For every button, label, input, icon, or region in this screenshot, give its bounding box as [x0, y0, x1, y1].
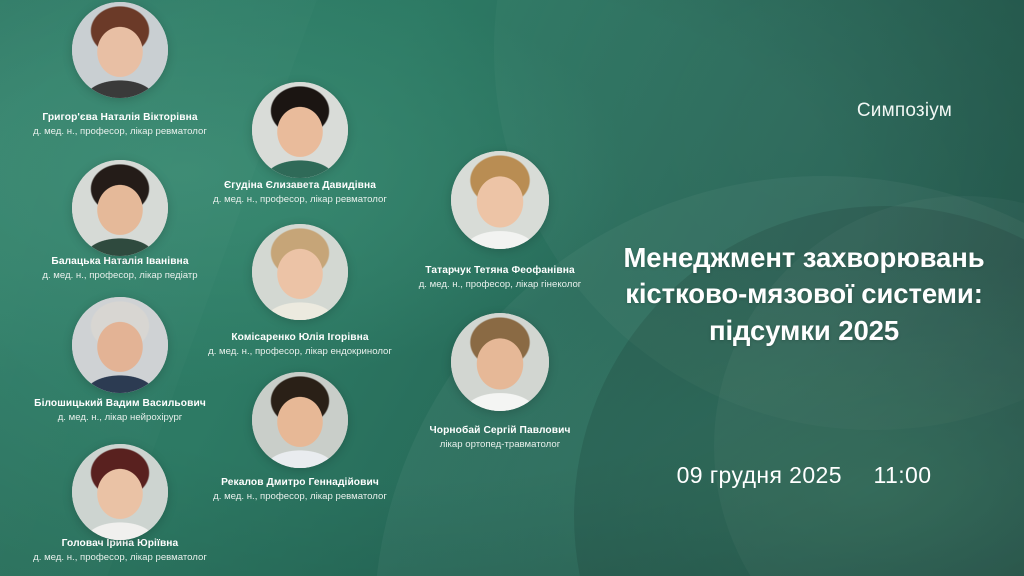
speaker-portrait-chornobai	[451, 313, 549, 411]
event-kicker: Симпозіум	[857, 100, 952, 122]
event-title: Менеджмент захворювань кістково-мязової …	[608, 240, 1000, 349]
speaker-role-rekalov: д. мед. н., професор, лікар ревматолог	[130, 491, 470, 502]
event-date: 09 грудня 2025	[677, 462, 842, 488]
speaker-avatar-tatarchuk	[451, 151, 549, 249]
speaker-name-rekalov: Рекалов Дмитро Геннадійович	[130, 477, 470, 488]
event-panel: Симпозіум Менеджмент захворювань кістков…	[600, 0, 1024, 576]
event-datetime: 09 грудня 2025 11:00	[608, 462, 1000, 489]
speaker-role-holovach: д. мед. н., професор, лікар ревматолог	[0, 552, 290, 563]
event-time: 11:00	[874, 462, 932, 488]
speaker-avatar-chornobai	[451, 313, 549, 411]
speaker-portrait-tatarchuk	[451, 151, 549, 249]
event-title-line-3: підсумки 2025	[608, 313, 1000, 349]
event-title-line-1: Менеджмент захворювань	[608, 240, 1000, 276]
event-title-line-2: кістково-мязової системи:	[608, 276, 1000, 312]
